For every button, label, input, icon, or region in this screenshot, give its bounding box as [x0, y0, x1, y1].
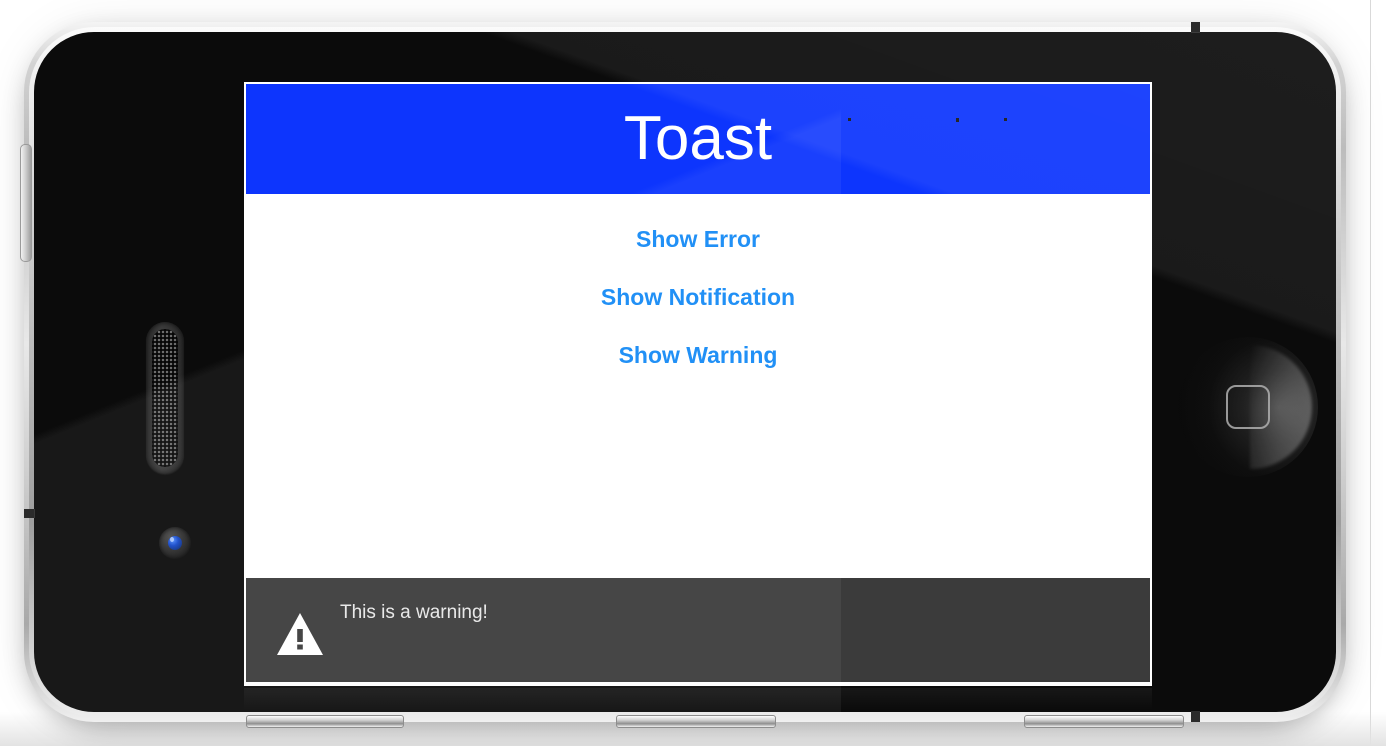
home-button[interactable]: [1178, 337, 1318, 477]
app-navbar: Toast: [246, 84, 1150, 194]
page-right-margin: [1371, 0, 1386, 746]
page-title: Toast: [624, 108, 772, 170]
navbar-speck-1: [848, 118, 851, 121]
app-viewport: Toast Show Error Show Notification Show …: [244, 82, 1152, 686]
bottom-edge-slot-left: [246, 715, 404, 728]
antenna-notch-top: [1191, 22, 1200, 33]
antenna-notch-left: [24, 509, 35, 518]
earpiece-speaker-icon: [146, 322, 184, 474]
bottom-edge-slot-right: [1024, 715, 1184, 728]
front-camera-icon: [159, 527, 191, 559]
navbar-speck-3: [1004, 118, 1007, 121]
home-button-square-icon: [1226, 385, 1270, 429]
camera-lens-glint: [170, 537, 174, 542]
page-root: Toast Show Error Show Notification Show …: [0, 0, 1386, 746]
speaker-mesh-pattern: [152, 329, 178, 467]
device-black-bezel: Toast Show Error Show Notification Show …: [34, 32, 1336, 712]
show-error-link[interactable]: Show Error: [246, 210, 1150, 268]
toast-message-text: This is a warning!: [340, 602, 488, 625]
navbar-speck-2: [956, 118, 959, 122]
show-notification-link[interactable]: Show Notification: [246, 268, 1150, 326]
show-warning-link[interactable]: Show Warning: [246, 326, 1150, 384]
toast-banner[interactable]: This is a warning!: [246, 576, 1150, 684]
warning-triangle-icon: [272, 608, 328, 660]
antenna-notch-bottom: [1191, 711, 1200, 722]
volume-rocker-button[interactable]: [20, 144, 32, 262]
app-content-list: Show Error Show Notification Show Warnin…: [246, 194, 1150, 576]
screen-reflection: [244, 688, 1152, 710]
iphone-device-mockup: Toast Show Error Show Notification Show …: [24, 22, 1346, 722]
page-right-divider: [1370, 0, 1371, 746]
bottom-edge-slot-center: [616, 715, 776, 728]
